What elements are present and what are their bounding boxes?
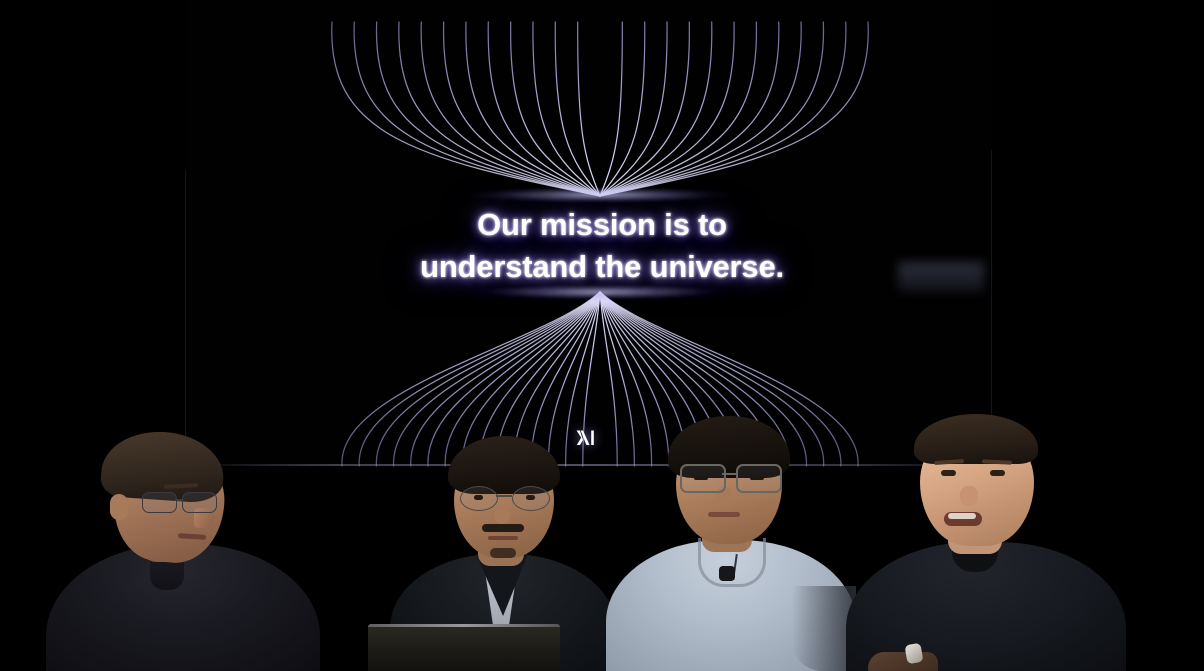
panelist-1-glasses bbox=[142, 492, 224, 512]
panelist-3-mouth bbox=[708, 512, 740, 517]
livestream-frame: Our mission is to understand the univers… bbox=[0, 0, 1204, 671]
panelist-3-eye-left bbox=[694, 476, 708, 480]
panelist-2-chin-beard bbox=[490, 548, 516, 558]
panelist-1-lens-left bbox=[142, 492, 177, 513]
panelist-1-glasses-bridge bbox=[175, 499, 182, 501]
panelist-2-mustache bbox=[482, 524, 524, 532]
panelist-2-glasses bbox=[460, 486, 548, 510]
panelist-4-pendant bbox=[904, 643, 923, 664]
panelist-3-eye-right bbox=[750, 476, 764, 480]
panelist-4-hair bbox=[914, 414, 1038, 464]
laptop-lid-edge bbox=[368, 624, 560, 627]
mission-line-1: Our mission is to bbox=[0, 204, 1204, 246]
mission-line-2: understand the universe. bbox=[0, 246, 1204, 288]
panelist-1-lens-right bbox=[182, 492, 217, 513]
laptop bbox=[368, 624, 560, 671]
panelist-4-nose bbox=[960, 486, 978, 506]
panelist-1-ear bbox=[110, 494, 128, 520]
panelist-2-nose bbox=[494, 508, 510, 524]
panelist-2-glasses-bridge bbox=[496, 495, 512, 497]
panelist-4-hand bbox=[868, 652, 938, 671]
panelist-4-eye-left bbox=[941, 470, 956, 476]
panelist-2-mouth bbox=[488, 536, 518, 540]
panelist-4 bbox=[846, 406, 1126, 671]
panelist-2-eye-left bbox=[474, 495, 483, 500]
panelist-3 bbox=[606, 408, 856, 671]
mission-statement: Our mission is to understand the univers… bbox=[0, 204, 1204, 288]
upper-convergence-glow bbox=[470, 188, 730, 202]
panelist-3-lapel-mic bbox=[719, 566, 735, 581]
panelist-3-glasses-bridge bbox=[722, 473, 736, 475]
panelist-3-glasses bbox=[680, 464, 778, 490]
panelist-4-teeth bbox=[948, 513, 976, 519]
panelist-4-eye-right bbox=[990, 470, 1005, 476]
panelist-2-eye-right bbox=[526, 495, 535, 500]
panelist-1 bbox=[38, 418, 328, 671]
